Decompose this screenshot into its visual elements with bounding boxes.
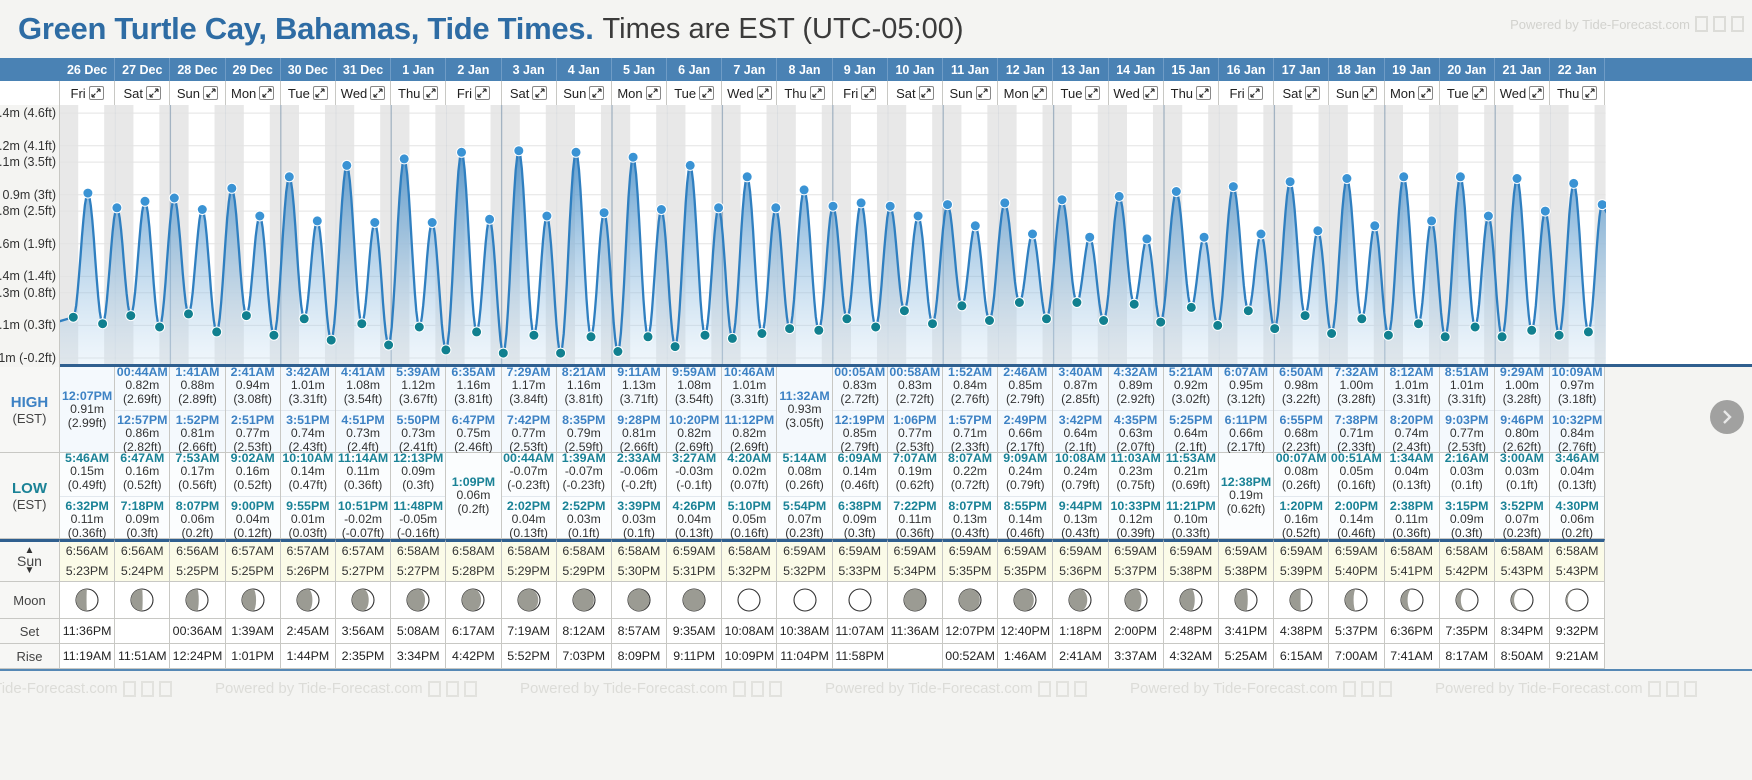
expand-icon[interactable]: [1472, 86, 1487, 100]
low-tide-cell[interactable]: 1:09PM0.06m(0.2ft): [446, 453, 501, 539]
weekday-cell[interactable]: Sat: [888, 81, 943, 105]
moonset-cell: 9:35AM: [667, 619, 722, 644]
low-tide-marker[interactable]: [126, 311, 136, 321]
tide-event: 11:03AM0.23m(0.75ft): [1109, 450, 1163, 494]
expand-icon[interactable]: [1529, 86, 1544, 100]
low-tide-marker[interactable]: [241, 311, 251, 321]
moonset-time: 5:08AM: [397, 624, 440, 638]
high-tide-marker[interactable]: [628, 152, 638, 162]
sunrise-time: 6:56AM: [176, 542, 219, 561]
date-cell[interactable]: 4 Jan: [557, 58, 612, 81]
high-tide-marker[interactable]: [1427, 216, 1437, 226]
tide-event: 5:46AM0.15m(0.49ft): [60, 450, 114, 494]
low-tide-marker[interactable]: [441, 345, 451, 355]
high-tide-cell[interactable]: 00:44AM0.82m(2.69ft)12:57PM0.86m(2.82ft): [115, 367, 170, 453]
low-tide-cell[interactable]: 00:44AM-0.07m(-0.23ft)2:02PM0.04m(0.13ft…: [502, 453, 557, 539]
high-tide-marker[interactable]: [399, 154, 409, 164]
tide-height-m: 1.01m: [281, 379, 335, 393]
tide-time: 1:57PM: [943, 413, 997, 427]
tide-time: 00:51AM: [1329, 451, 1383, 465]
low-tide-marker[interactable]: [269, 330, 279, 340]
weekday-cell[interactable]: Thu: [1164, 81, 1219, 105]
high-tide-cell[interactable]: 00:58AM0.83m(2.72ft)1:06PM0.77m(2.53ft): [888, 367, 943, 453]
weekday-cell[interactable]: Mon: [612, 81, 667, 105]
expand-icon[interactable]: [1305, 86, 1320, 100]
low-tide-marker[interactable]: [814, 325, 824, 335]
low-tide-marker[interactable]: [1414, 319, 1424, 329]
low-tide-cell[interactable]: 9:02AM0.16m(0.52ft)9:00PM0.04m(0.12ft): [226, 453, 281, 539]
expand-icon[interactable]: [1362, 86, 1377, 100]
high-tide-marker[interactable]: [1512, 174, 1522, 184]
high-tide-cell[interactable]: 6:50AM0.98m(3.22ft)6:55PM0.68m(2.23ft): [1274, 367, 1329, 453]
weekday-cell[interactable]: Sat: [115, 81, 170, 105]
date-cell[interactable]: 1 Jan: [391, 58, 446, 81]
weekday-cell[interactable]: Thu: [391, 81, 446, 105]
high-tide-marker[interactable]: [1256, 229, 1266, 239]
date-cell[interactable]: 12 Jan: [998, 58, 1053, 81]
tide-time: 7:22PM: [888, 499, 942, 513]
low-tide-marker[interactable]: [357, 319, 367, 329]
weekday-cell[interactable]: Tue: [1440, 81, 1495, 105]
low-tide-cell[interactable]: 6:09AM0.14m(0.46ft)6:38PM0.09m(0.3ft): [833, 453, 888, 539]
low-tide-cell[interactable]: 12:13PM0.09m(0.3ft)11:48PM-0.05m(-0.16ft…: [391, 453, 446, 539]
low-tide-marker[interactable]: [498, 348, 508, 358]
low-tide-cell[interactable]: 10:08AM0.24m(0.79ft)9:44PM0.13m(0.43ft): [1053, 453, 1108, 539]
low-tide-marker[interactable]: [1383, 330, 1393, 340]
high-tide-cell[interactable]: 5:39AM1.12m(3.67ft)5:50PM0.73m(2.41ft): [391, 367, 446, 453]
weekday-cell[interactable]: Wed: [1495, 81, 1550, 105]
high-tide-marker[interactable]: [255, 211, 265, 221]
high-tide-marker[interactable]: [1483, 211, 1493, 221]
tide-event: 1:34AM0.04m(0.13ft): [1385, 450, 1439, 494]
expand-icon[interactable]: [1582, 86, 1597, 100]
moonset-cell: 6:36PM: [1385, 619, 1440, 644]
low-tide-marker[interactable]: [212, 327, 222, 337]
high-tide-cell[interactable]: 00:05AM0.83m(2.72ft)12:19PM0.85m(2.79ft): [833, 367, 888, 453]
high-tide-cell[interactable]: 9:29AM1.00m(3.28ft)9:46PM0.80m(2.62ft): [1495, 367, 1550, 453]
date-cell[interactable]: 6 Jan: [667, 58, 722, 81]
expand-icon[interactable]: [1418, 86, 1433, 100]
high-tide-marker[interactable]: [1285, 177, 1295, 187]
tide-time: 6:55PM: [1274, 413, 1328, 427]
low-tide-marker[interactable]: [1186, 302, 1196, 312]
expand-icon[interactable]: [423, 86, 438, 100]
high-tide-marker[interactable]: [312, 216, 322, 226]
high-tide-cell[interactable]: 6:35AM1.16m(3.81ft)6:47PM0.75m(2.46ft): [446, 367, 501, 453]
low-tide-marker[interactable]: [785, 324, 795, 334]
low-tide-marker[interactable]: [985, 316, 995, 326]
high-tide-cell[interactable]: 4:32AM0.89m(2.92ft)4:35PM0.63m(2.07ft): [1109, 367, 1164, 453]
date-cell[interactable]: 15 Jan: [1164, 58, 1219, 81]
high-tide-cell[interactable]: 8:12AM1.01m(3.31ft)8:20PM0.74m(2.43ft): [1385, 367, 1440, 453]
weekday-cell[interactable]: Wed: [336, 81, 391, 105]
low-tide-marker[interactable]: [1300, 311, 1310, 321]
tide-event: 3:51PM0.74m(2.43ft): [281, 410, 335, 456]
low-tide-marker[interactable]: [1156, 317, 1166, 327]
expand-icon[interactable]: [919, 86, 934, 100]
expand-icon[interactable]: [146, 86, 161, 100]
moonset-time: 9:32PM: [1556, 624, 1599, 638]
low-tide-marker[interactable]: [529, 330, 539, 340]
low-tide-cell[interactable]: 10:10AM0.14m(0.47ft)9:55PM0.01m(0.03ft): [281, 453, 336, 539]
date-cell[interactable]: 3 Jan: [502, 58, 557, 81]
tide-height-m: 0.21m: [1164, 465, 1218, 479]
low-tide-marker[interactable]: [384, 340, 394, 350]
high-tide-marker[interactable]: [1171, 187, 1181, 197]
low-tide-cell[interactable]: 5:46AM0.15m(0.49ft)6:32PM0.11m(0.36ft): [60, 453, 115, 539]
moon-phase-icon: [1123, 587, 1149, 613]
low-tide-marker[interactable]: [1357, 314, 1367, 324]
high-tide-cell[interactable]: 4:41AM1.08m(3.54ft)4:51PM0.73m(2.4ft): [336, 367, 391, 453]
high-tide-marker[interactable]: [514, 146, 524, 156]
moonrise-cell: 11:51AM: [115, 644, 170, 669]
high-tide-marker[interactable]: [714, 203, 724, 213]
high-tide-marker[interactable]: [771, 203, 781, 213]
high-tide-marker[interactable]: [742, 172, 752, 182]
sun-cell: 6:59AM5:34PM: [888, 539, 943, 582]
high-tide-cell[interactable]: 10:46AM1.01m(3.31ft)11:12PM0.82m(2.69ft): [722, 367, 777, 453]
expand-icon[interactable]: [532, 86, 547, 100]
weekday-cell[interactable]: Sun: [170, 81, 225, 105]
high-tide-marker[interactable]: [685, 160, 695, 170]
tide-height-m: 0.97m: [1550, 379, 1604, 393]
high-tide-cell[interactable]: 2:41AM0.94m(3.08ft)2:51PM0.77m(2.53ft): [226, 367, 281, 453]
high-tide-marker[interactable]: [1000, 198, 1010, 208]
low-tide-cell[interactable]: 00:07AM0.08m(0.26ft)1:20PM0.16m(0.52ft): [1274, 453, 1329, 539]
high-tide-marker[interactable]: [370, 218, 380, 228]
low-tide-cell[interactable]: 3:46AM0.04m(0.13ft)4:30PM0.06m(0.2ft): [1550, 453, 1605, 539]
date-cell[interactable]: 17 Jan: [1274, 58, 1329, 81]
low-tide-marker[interactable]: [1014, 298, 1024, 308]
expand-icon[interactable]: [699, 86, 714, 100]
expand-icon[interactable]: [1085, 86, 1100, 100]
weekday-cell[interactable]: Sat: [1274, 81, 1329, 105]
tide-height-m: 0.64m: [1053, 427, 1107, 441]
low-tide-marker[interactable]: [928, 319, 938, 329]
high-tide-marker[interactable]: [1597, 200, 1605, 210]
low-tide-cell[interactable]: 3:00AM0.03m(0.1ft)3:52PM0.07m(0.23ft): [1495, 453, 1550, 539]
low-tide-marker[interactable]: [1072, 298, 1082, 308]
low-tide-cell[interactable]: 4:20AM0.02m(0.07ft)5:10PM0.05m(0.16ft): [722, 453, 777, 539]
high-tide-marker[interactable]: [1142, 234, 1152, 244]
low-tide-marker[interactable]: [1583, 327, 1593, 337]
expand-icon[interactable]: [475, 86, 490, 100]
tide-event: 2:46AM0.85m(2.79ft): [998, 364, 1052, 408]
tide-event: 10:33PM0.12m(0.39ft): [1109, 496, 1163, 542]
expand-icon[interactable]: [89, 86, 104, 100]
high-tide-marker[interactable]: [197, 205, 207, 215]
low-tide-marker[interactable]: [586, 332, 596, 342]
high-tide-cell[interactable]: 12:07PM0.91m(2.99ft): [60, 367, 115, 453]
high-tide-marker[interactable]: [1085, 232, 1095, 242]
low-tide-marker[interactable]: [1497, 332, 1507, 342]
tide-height-m: 0.77m: [502, 427, 556, 441]
tide-time: 9:02AM: [226, 451, 280, 465]
low-tide-marker[interactable]: [98, 319, 108, 329]
low-tide-marker[interactable]: [1327, 329, 1337, 339]
tide-time: 11:32AM: [777, 389, 831, 403]
high-tide-cell[interactable]: 7:29AM1.17m(3.84ft)7:42PM0.77m(2.53ft): [502, 367, 557, 453]
high-tide-cell[interactable]: 11:32AM0.93m(3.05ft): [777, 367, 832, 453]
expand-icon[interactable]: [589, 86, 604, 100]
high-tide-marker[interactable]: [1399, 172, 1409, 182]
high-tide-marker[interactable]: [856, 198, 866, 208]
low-tide-marker[interactable]: [299, 314, 309, 324]
weekday-cell[interactable]: Mon: [1385, 81, 1440, 105]
date-cell[interactable]: 7 Jan: [722, 58, 777, 81]
high-tide-marker[interactable]: [1199, 232, 1209, 242]
moonrise-time: 5:52PM: [507, 649, 550, 663]
high-tide-marker[interactable]: [1569, 178, 1579, 188]
expand-icon[interactable]: [313, 86, 328, 100]
low-tide-marker[interactable]: [68, 312, 78, 322]
weekday-cell[interactable]: Sun: [943, 81, 998, 105]
low-tide-cell[interactable]: 11:53AM0.21m(0.69ft)11:21PM0.10m(0.33ft): [1164, 453, 1219, 539]
date-cell[interactable]: 28 Dec: [170, 58, 225, 81]
sunset-time: 5:38PM: [1169, 562, 1212, 581]
low-tide-cell[interactable]: 7:07AM0.19m(0.62ft)7:22PM0.11m(0.36ft): [888, 453, 943, 539]
expand-icon[interactable]: [1143, 86, 1158, 100]
date-cell[interactable]: 11 Jan: [943, 58, 998, 81]
date-cell[interactable]: 9 Jan: [833, 58, 888, 81]
weekday-cell[interactable]: Fri: [60, 81, 115, 105]
high-tide-marker[interactable]: [1114, 191, 1124, 201]
low-tide-marker[interactable]: [1243, 306, 1253, 316]
low-tide-cell[interactable]: 00:51AM0.05m(0.16ft)2:00PM0.14m(0.46ft): [1329, 453, 1384, 539]
low-tide-marker[interactable]: [1270, 324, 1280, 334]
high-tide-cell[interactable]: 2:46AM0.85m(2.79ft)2:49PM0.66m(2.17ft): [998, 367, 1053, 453]
low-tide-cell[interactable]: 2:16AM0.03m(0.1ft)3:15PM0.09m(0.3ft): [1440, 453, 1495, 539]
watermark-icon-1: [1695, 16, 1708, 32]
high-tide-cell[interactable]: 1:41AM0.88m(2.89ft)1:52PM0.81m(2.66ft): [170, 367, 225, 453]
high-tide-marker[interactable]: [913, 211, 923, 221]
weekday-label: Wed: [341, 86, 368, 101]
weekday-cell[interactable]: Wed: [1109, 81, 1164, 105]
expand-icon[interactable]: [1032, 86, 1047, 100]
low-tide-cell[interactable]: 6:47AM0.16m(0.52ft)7:18PM0.09m(0.3ft): [115, 453, 170, 539]
tide-plot-area[interactable]: [60, 105, 1752, 367]
tide-height-ft: (0.56ft): [170, 479, 224, 493]
tide-time: 6:47AM: [115, 451, 169, 465]
high-tide-cell[interactable]: 10:09AM0.97m(3.18ft)10:32PM0.84m(2.76ft): [1550, 367, 1605, 453]
low-tide-marker[interactable]: [326, 335, 336, 345]
weekday-label: Fri: [1229, 86, 1244, 101]
date-cell[interactable]: 29 Dec: [226, 58, 281, 81]
tide-time: 7:53AM: [170, 451, 224, 465]
date-cell[interactable]: 13 Jan: [1053, 58, 1108, 81]
high-tide-cell[interactable]: 8:51AM1.01m(3.31ft)9:03PM0.77m(2.53ft): [1440, 367, 1495, 453]
tide-event: 5:54PM0.07m(0.23ft): [777, 496, 831, 542]
low-tide-marker[interactable]: [1440, 332, 1450, 342]
expand-icon[interactable]: [861, 86, 876, 100]
tide-event: 1:06PM0.77m(2.53ft): [888, 410, 942, 456]
tide-event: 9:46PM0.80m(2.62ft): [1495, 410, 1549, 456]
expand-icon[interactable]: [810, 86, 825, 100]
low-tide-cell[interactable]: 11:03AM0.23m(0.75ft)10:33PM0.12m(0.39ft): [1109, 453, 1164, 539]
high-tide-cell[interactable]: 7:32AM1.00m(3.28ft)7:38PM0.71m(2.33ft): [1329, 367, 1384, 453]
low-tide-marker[interactable]: [1099, 316, 1109, 326]
weekday-cell[interactable]: Tue: [281, 81, 336, 105]
expand-icon[interactable]: [370, 86, 385, 100]
expand-icon[interactable]: [1248, 86, 1263, 100]
low-tide-cell[interactable]: 11:14AM0.11m(0.36ft)10:51PM-0.02m(-0.07f…: [336, 453, 391, 539]
high-tide-marker[interactable]: [427, 218, 437, 228]
weekday-cell[interactable]: Fri: [833, 81, 888, 105]
date-cell[interactable]: 30 Dec: [281, 58, 336, 81]
low-tide-cell[interactable]: 2:33AM-0.06m(-0.2ft)3:39PM0.03m(0.1ft): [612, 453, 667, 539]
weekday-cell[interactable]: Wed: [722, 81, 777, 105]
high-tide-cell[interactable]: 1:52AM0.84m(2.76ft)1:57PM0.71m(2.33ft): [943, 367, 998, 453]
weekday-cell[interactable]: Thu: [777, 81, 832, 105]
low-tide-marker[interactable]: [1470, 322, 1480, 332]
weekday-cell[interactable]: Thu: [1550, 81, 1605, 105]
tide-time: 3:39PM: [612, 499, 666, 513]
tide-height-m: 0.06m: [446, 489, 500, 503]
weekday-cell[interactable]: Mon: [998, 81, 1053, 105]
weekday-cell[interactable]: Tue: [667, 81, 722, 105]
high-tide-cell[interactable]: 8:21AM1.16m(3.81ft)8:35PM0.79m(2.59ft): [557, 367, 612, 453]
low-tide-marker[interactable]: [670, 342, 680, 352]
weekday-cell[interactable]: Sun: [557, 81, 612, 105]
low-tide-cell[interactable]: 3:27AM-0.03m(-0.1ft)4:26PM0.04m(0.13ft): [667, 453, 722, 539]
weekday-cell[interactable]: Sun: [1329, 81, 1384, 105]
tide-height-m: 0.03m: [1440, 465, 1494, 479]
high-tide-marker[interactable]: [542, 211, 552, 221]
low-tide-cell[interactable]: 1:34AM0.04m(0.13ft)2:38PM0.11m(0.36ft): [1385, 453, 1440, 539]
expand-icon[interactable]: [203, 86, 218, 100]
date-cell[interactable]: 31 Dec: [336, 58, 391, 81]
high-tide-cell[interactable]: 3:42AM1.01m(3.31ft)3:51PM0.74m(2.43ft): [281, 367, 336, 453]
high-tide-marker[interactable]: [885, 201, 895, 211]
date-cell[interactable]: 21 Jan: [1495, 58, 1550, 81]
low-tide-cell[interactable]: 9:09AM0.24m(0.79ft)8:55PM0.14m(0.46ft): [998, 453, 1053, 539]
low-tide-cell[interactable]: 8:07AM0.22m(0.72ft)8:07PM0.13m(0.43ft): [943, 453, 998, 539]
low-tide-marker[interactable]: [155, 322, 165, 332]
date-cell[interactable]: 22 Jan: [1550, 58, 1605, 81]
date-cell[interactable]: 20 Jan: [1440, 58, 1495, 81]
expand-icon[interactable]: [1196, 86, 1211, 100]
low-tide-marker[interactable]: [842, 314, 852, 324]
low-tide-marker[interactable]: [1042, 314, 1052, 324]
expand-icon[interactable]: [646, 86, 661, 100]
date-cell[interactable]: 18 Jan: [1329, 58, 1384, 81]
high-tide-marker[interactable]: [599, 208, 609, 218]
high-tide-marker[interactable]: [1370, 221, 1380, 231]
low-tide-cell[interactable]: 5:14AM0.08m(0.26ft)5:54PM0.07m(0.23ft): [777, 453, 832, 539]
date-cell[interactable]: 5 Jan: [612, 58, 667, 81]
high-tide-cell[interactable]: 9:11AM1.13m(3.71ft)9:28PM0.81m(2.66ft): [612, 367, 667, 453]
date-cell[interactable]: 8 Jan: [777, 58, 832, 81]
high-tide-marker[interactable]: [1228, 182, 1238, 192]
low-tide-marker[interactable]: [757, 329, 767, 339]
high-tide-marker[interactable]: [457, 147, 467, 157]
tide-time: 9:09AM: [998, 451, 1052, 465]
high-tide-marker[interactable]: [943, 200, 953, 210]
date-cell[interactable]: 14 Jan: [1109, 58, 1164, 81]
low-tide-marker[interactable]: [1527, 325, 1537, 335]
low-tide-marker[interactable]: [1213, 320, 1223, 330]
weekday-cell[interactable]: Fri: [446, 81, 501, 105]
low-tide-cell[interactable]: 1:39AM-0.07m(-0.23ft)2:52PM0.03m(0.1ft): [557, 453, 612, 539]
high-tide-marker[interactable]: [970, 221, 980, 231]
low-tide-marker[interactable]: [556, 348, 566, 358]
low-tide-marker[interactable]: [613, 347, 623, 357]
expand-icon[interactable]: [259, 86, 274, 100]
weekday-cell[interactable]: Mon: [226, 81, 281, 105]
high-tide-marker[interactable]: [169, 193, 179, 203]
high-tide-marker[interactable]: [828, 201, 838, 211]
sunrise-time: 6:56AM: [121, 542, 164, 561]
low-tide-marker[interactable]: [414, 322, 424, 332]
low-tide-marker[interactable]: [184, 309, 194, 319]
high-tide-marker[interactable]: [1028, 229, 1038, 239]
weekday-label: Sat: [124, 86, 144, 101]
high-tide-cell[interactable]: 6:07AM0.95m(3.12ft)6:11PM0.66m(2.17ft): [1219, 367, 1274, 453]
high-tide-marker[interactable]: [227, 183, 237, 193]
high-tide-marker[interactable]: [1313, 226, 1323, 236]
sunset-time: 5:43PM: [1501, 562, 1544, 581]
high-tide-marker[interactable]: [1342, 174, 1352, 184]
high-tide-marker[interactable]: [571, 147, 581, 157]
high-tide-cell[interactable]: 9:59AM1.08m(3.54ft)10:20PM0.82m(2.69ft): [667, 367, 722, 453]
low-tide-marker[interactable]: [472, 327, 482, 337]
date-cell[interactable]: 26 Dec: [60, 58, 115, 81]
low-tide-marker[interactable]: [871, 322, 881, 332]
moon-phase-icon: [1012, 587, 1038, 613]
date-cell[interactable]: 16 Jan: [1219, 58, 1274, 81]
high-tide-cell[interactable]: 3:40AM0.87m(2.85ft)3:42PM0.64m(2.1ft): [1053, 367, 1108, 453]
high-tide-marker[interactable]: [284, 172, 294, 182]
low-tide-cell[interactable]: 7:53AM0.17m(0.56ft)8:07PM0.06m(0.2ft): [170, 453, 225, 539]
low-tide-cell[interactable]: 12:38PM0.19m(0.62ft): [1219, 453, 1274, 539]
high-tide-marker[interactable]: [1057, 195, 1067, 205]
high-tide-marker[interactable]: [112, 203, 122, 213]
high-tide-marker[interactable]: [656, 205, 666, 215]
weekday-cell[interactable]: Sat: [502, 81, 557, 105]
high-tide-marker[interactable]: [799, 185, 809, 195]
weekday-cell[interactable]: Fri: [1219, 81, 1274, 105]
date-cell[interactable]: 10 Jan: [888, 58, 943, 81]
high-tide-marker[interactable]: [485, 214, 495, 224]
date-cell[interactable]: 2 Jan: [446, 58, 501, 81]
sunrise-time: 6:58AM: [562, 542, 605, 561]
tide-height-ft: (3.31ft): [1385, 393, 1439, 407]
high-tide-marker[interactable]: [140, 196, 150, 206]
low-tide-marker[interactable]: [899, 306, 909, 316]
low-tide-marker[interactable]: [727, 333, 737, 343]
high-tide-marker[interactable]: [83, 188, 93, 198]
moonset-cell: 9:32PM: [1550, 619, 1605, 644]
expand-icon[interactable]: [976, 86, 991, 100]
tide-height-ft: (2.85ft): [1053, 393, 1107, 407]
high-tide-marker[interactable]: [1455, 172, 1465, 182]
high-tide-marker[interactable]: [342, 160, 352, 170]
low-tide-marker[interactable]: [643, 332, 653, 342]
sun-cell: 6:58AM5:43PM: [1495, 539, 1550, 582]
scroll-right-button[interactable]: [1710, 400, 1744, 434]
date-cell[interactable]: 19 Jan: [1385, 58, 1440, 81]
expand-icon[interactable]: [757, 86, 772, 100]
low-tide-marker[interactable]: [700, 330, 710, 340]
low-tide-marker[interactable]: [957, 301, 967, 311]
high-tide-marker[interactable]: [1540, 206, 1550, 216]
weekday-cell[interactable]: Tue: [1053, 81, 1108, 105]
low-tide-marker[interactable]: [1129, 299, 1139, 309]
date-cell[interactable]: 27 Dec: [115, 58, 170, 81]
tide-time: 3:42PM: [1053, 413, 1107, 427]
low-tide-marker[interactable]: [1554, 330, 1564, 340]
high-tide-cell[interactable]: 5:21AM0.92m(3.02ft)5:25PM0.64m(2.1ft): [1164, 367, 1219, 453]
